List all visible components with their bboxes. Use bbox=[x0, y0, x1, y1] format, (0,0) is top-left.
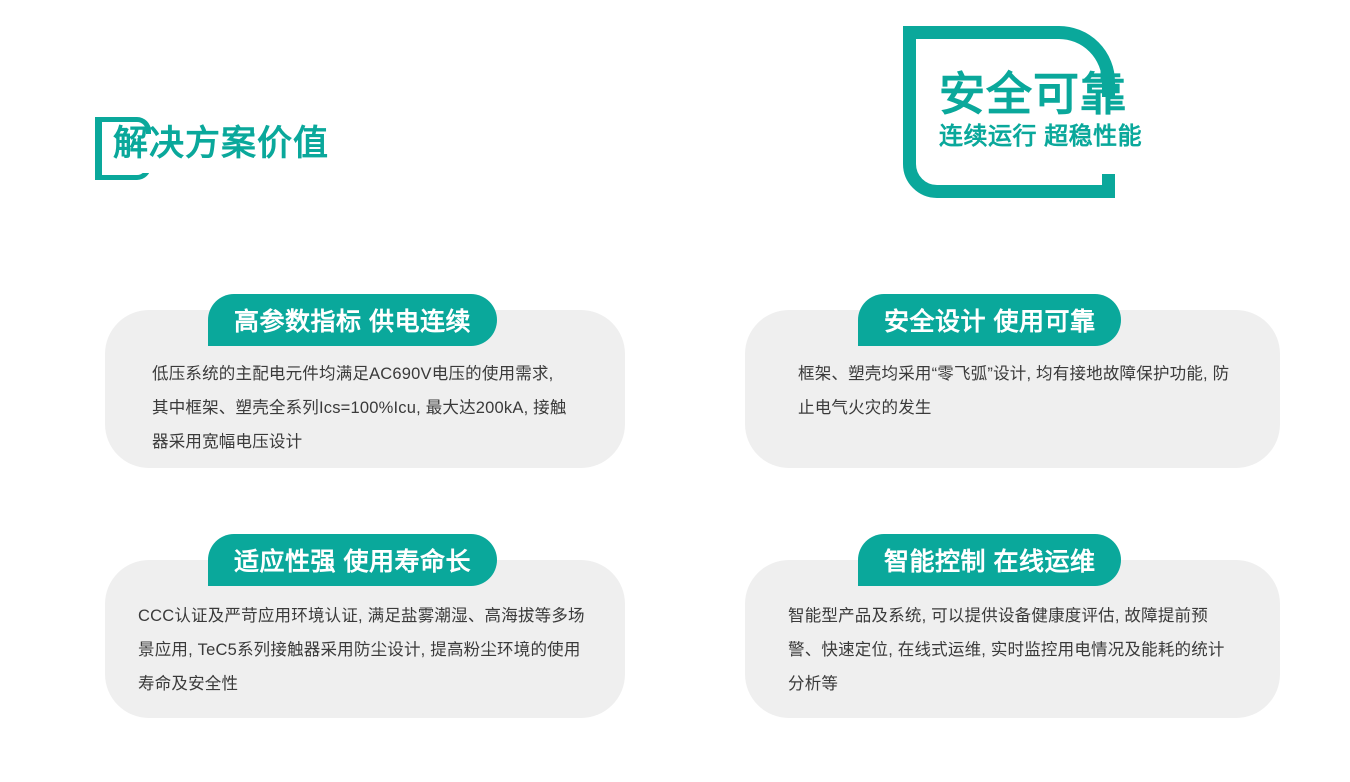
hero-text-group: 安全可靠 连续运行 超稳性能 bbox=[939, 70, 1199, 151]
feature-card-title: 智能控制 在线运维 bbox=[858, 534, 1121, 586]
feature-card-body: CCC认证及严苛应用环境认证, 满足盐雾潮湿、高海拔等多场景应用, TeC5系列… bbox=[138, 600, 588, 701]
feature-card-title: 适应性强 使用寿命长 bbox=[208, 534, 497, 586]
feature-card-title: 高参数指标 供电连续 bbox=[208, 294, 497, 346]
feature-card-body: 智能型产品及系统, 可以提供设备健康度评估, 故障提前预警、快速定位, 在线式运… bbox=[788, 600, 1238, 701]
feature-card-title: 安全设计 使用可靠 bbox=[858, 294, 1121, 346]
feature-card-body: 框架、塑壳均采用“零飞弧”设计, 均有接地故障保护功能, 防止电气火灾的发生 bbox=[798, 358, 1238, 426]
hero-badge: 安全可靠 连续运行 超稳性能 bbox=[903, 26, 1115, 198]
hero-subtitle: 连续运行 超稳性能 bbox=[939, 124, 1199, 150]
hero-title: 安全可靠 bbox=[939, 70, 1199, 118]
feature-card-body: 低压系统的主配电元件均满足AC690V电压的使用需求, 其中框架、塑壳全系列Ic… bbox=[152, 358, 572, 459]
section-heading-label: 解决方案价值 bbox=[113, 121, 329, 167]
section-heading: 解决方案价值 bbox=[95, 117, 415, 181]
